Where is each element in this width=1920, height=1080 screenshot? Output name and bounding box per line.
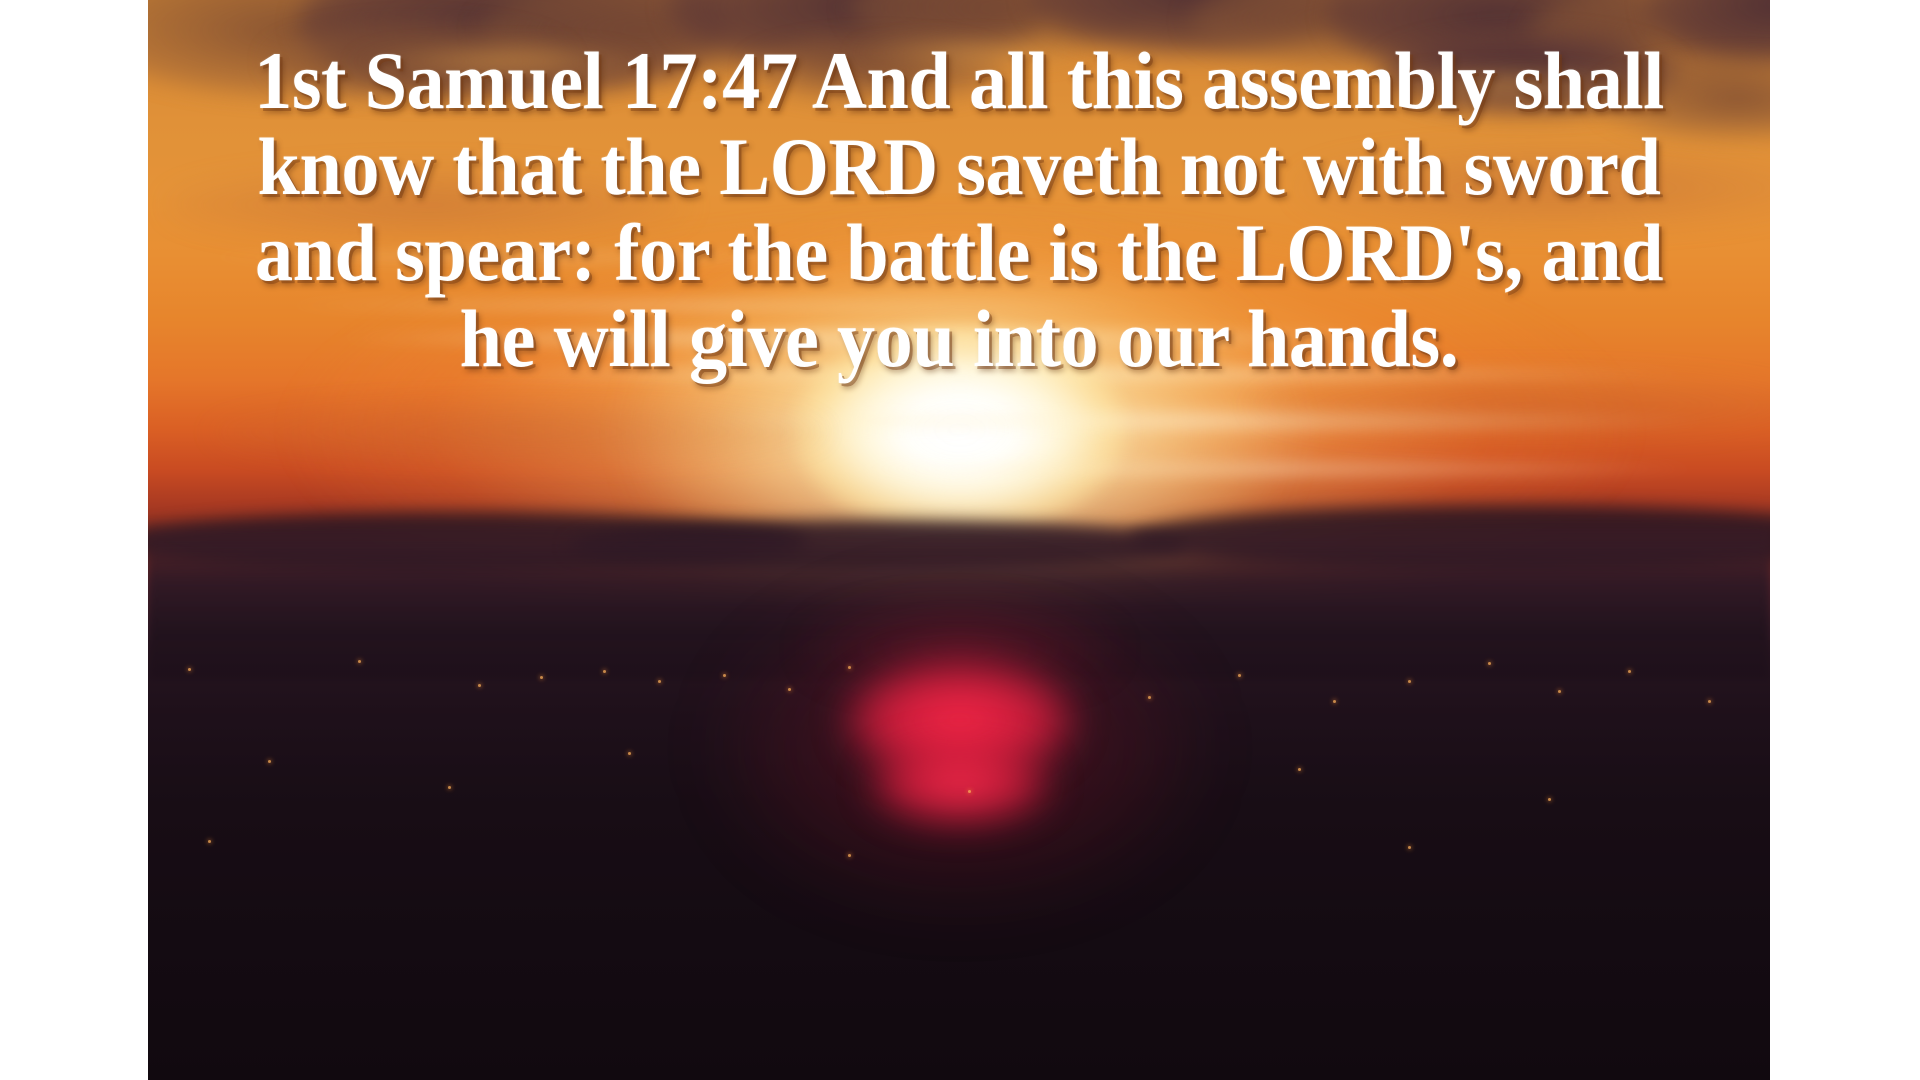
cloud-rim-light	[348, 46, 648, 76]
page-canvas: 1st Samuel 17:47 And all this assembly s…	[0, 0, 1920, 1080]
cloud-rim-light	[1378, 70, 1638, 100]
top-cloud-band	[148, 0, 1770, 160]
mid-cloud	[208, 400, 828, 464]
cloud-streak	[188, 252, 888, 262]
cloud-streak	[848, 462, 1708, 476]
cloud-rim-light	[848, 40, 1088, 66]
sunset-photograph: 1st Samuel 17:47 And all this assembly s…	[148, 0, 1770, 1080]
city-lights	[148, 640, 1770, 1080]
sun-core	[795, 325, 1125, 535]
